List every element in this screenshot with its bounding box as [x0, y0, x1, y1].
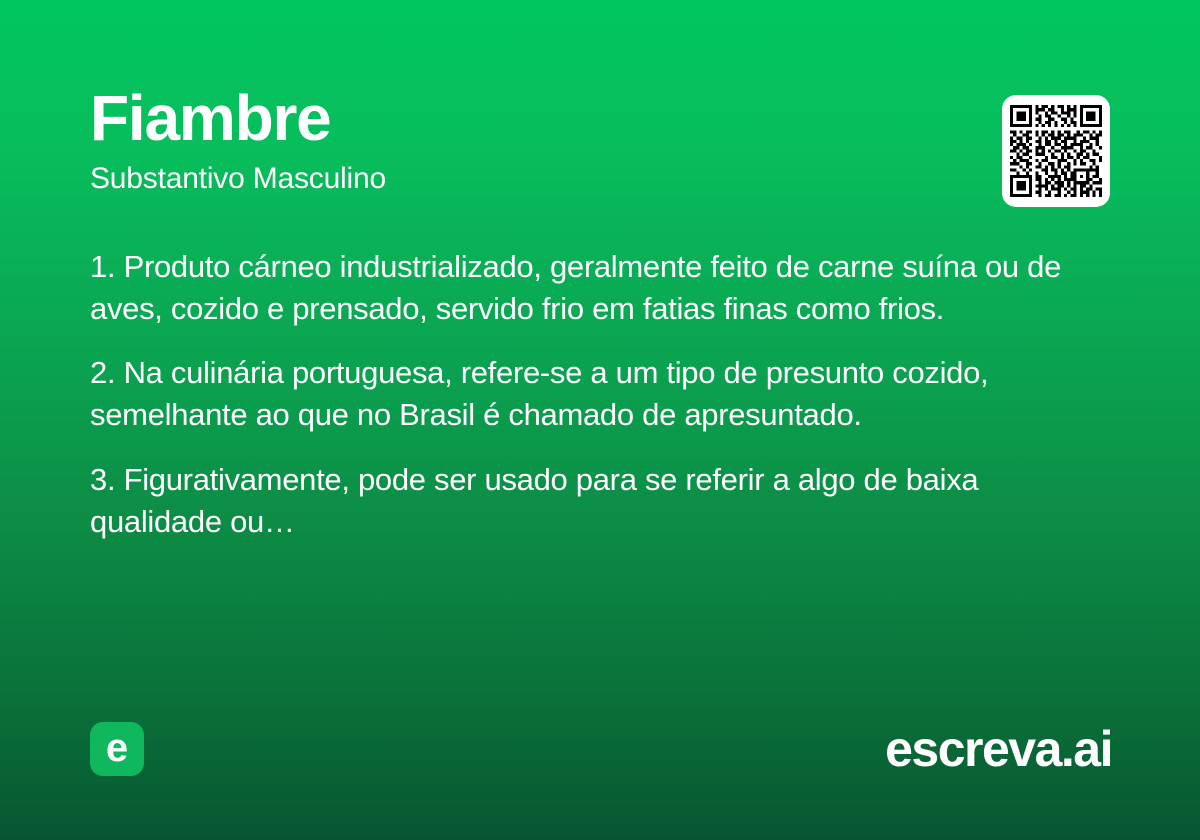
- definition-item: 2. Na culinária portuguesa, refere-se a …: [90, 352, 1100, 436]
- definition-item: 1. Produto cárneo industrializado, geral…: [90, 246, 1100, 330]
- qr-code-icon: [1010, 105, 1102, 197]
- definition-card: Fiambre Substantivo Masculino: [0, 0, 1200, 840]
- brand-logo-icon[interactable]: e: [90, 722, 144, 776]
- definition-item: 3. Figurativamente, pode ser usado para …: [90, 459, 1100, 543]
- word-class-label: Substantivo Masculino: [90, 164, 1110, 194]
- qr-code-panel[interactable]: [1002, 95, 1110, 207]
- definitions-list: 1. Produto cárneo industrializado, geral…: [90, 246, 1100, 543]
- brand-logo-letter: e: [90, 722, 144, 776]
- card-footer: e escreva.ai: [90, 722, 1112, 778]
- page-title: Fiambre: [90, 86, 1110, 150]
- card-header: Fiambre Substantivo Masculino: [90, 86, 1110, 194]
- brand-wordmark: escreva.ai: [885, 722, 1112, 776]
